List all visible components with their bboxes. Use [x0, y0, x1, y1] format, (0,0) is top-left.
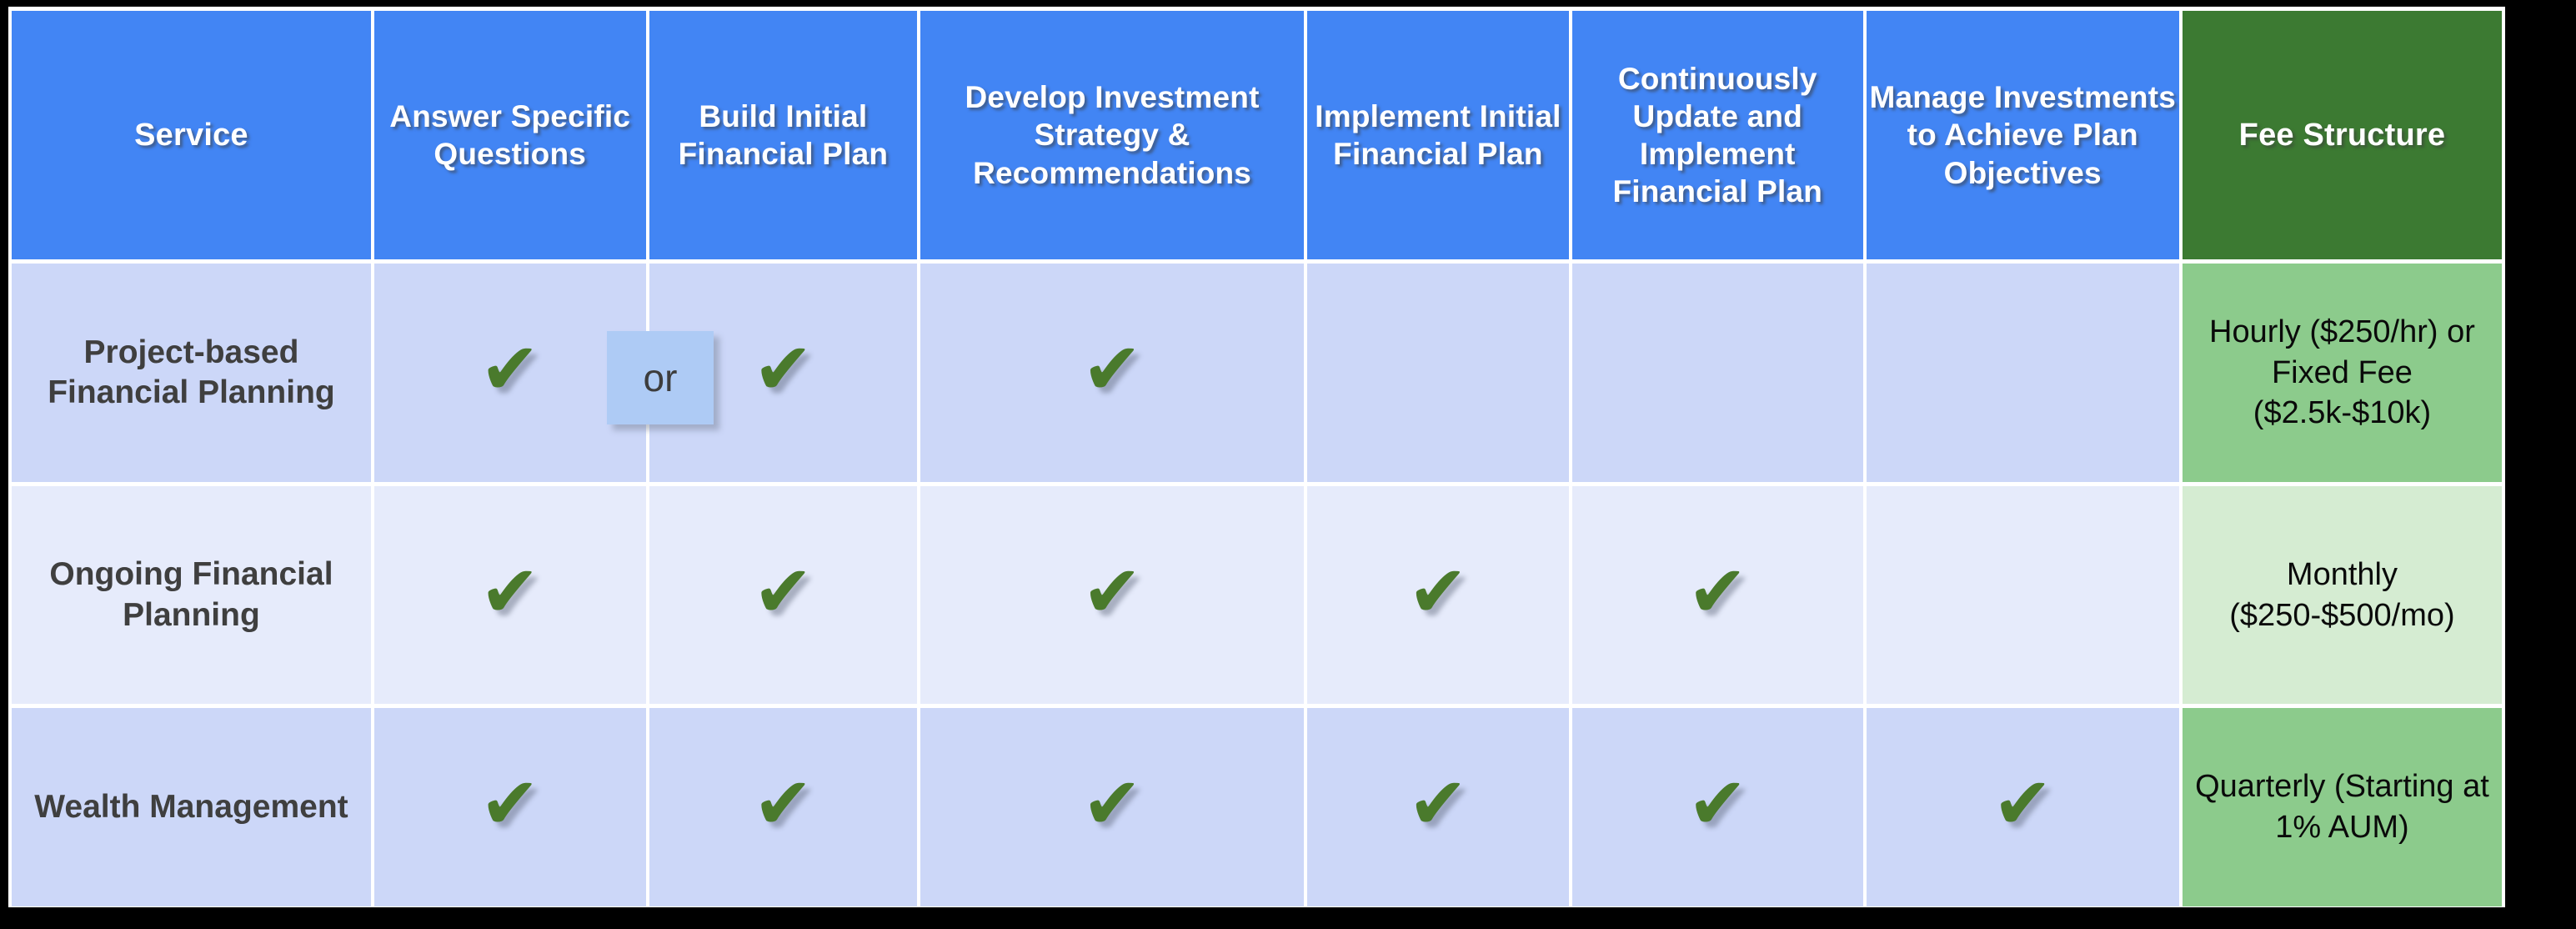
green-checkmark-icon: ✔: [753, 556, 813, 628]
green-checkmark-icon: ✔: [1408, 556, 1468, 628]
cell-update: ✔: [1572, 486, 1863, 704]
empty-cell: [1867, 486, 2179, 704]
green-checkmark-icon: ✔: [1082, 556, 1142, 628]
table-row: Project-based Financial Planning✔✔✔Hourl…: [12, 264, 2502, 482]
column-header-answer: Answer Specific Questions: [374, 11, 646, 259]
row-label: Wealth Management: [12, 708, 371, 906]
table-row: Ongoing Financial Planning✔✔✔✔✔Monthly (…: [12, 486, 2502, 704]
green-checkmark-icon: ✔: [753, 768, 813, 840]
green-checkmark-icon: ✔: [480, 556, 540, 628]
table-body: Project-based Financial Planning✔✔✔Hourl…: [12, 264, 2502, 906]
cell-fee: Quarterly (Starting at 1% AUM): [2183, 708, 2502, 906]
cell-manage: [1867, 486, 2179, 704]
image-frame: ServiceAnswer Specific QuestionsBuild In…: [0, 0, 2576, 929]
green-checkmark-icon: ✔: [1992, 768, 2052, 840]
cell-develop: ✔: [920, 486, 1304, 704]
green-checkmark-icon: ✔: [1082, 768, 1142, 840]
column-header-fee: Fee Structure: [2183, 11, 2502, 259]
table-sheet: ServiceAnswer Specific QuestionsBuild In…: [8, 7, 2505, 907]
empty-cell: [1307, 264, 1569, 482]
cell-manage: ✔: [1867, 708, 2179, 906]
cell-update: ✔: [1572, 708, 1863, 906]
column-header-develop: Develop Investment Strategy & Recommenda…: [920, 11, 1304, 259]
column-header-build: Build Initial Financial Plan: [649, 11, 918, 259]
table-header: ServiceAnswer Specific QuestionsBuild In…: [12, 11, 2502, 259]
cell-implement: [1307, 264, 1569, 482]
cell-build: ✔: [649, 708, 918, 906]
column-header-update: Continuously Update and Implement Financ…: [1572, 11, 1863, 259]
cell-fee: Monthly ($250-$500/mo): [2183, 486, 2502, 704]
cell-answer: ✔: [374, 708, 646, 906]
column-header-manage: Manage Investments to Achieve Plan Objec…: [1867, 11, 2179, 259]
cell-develop: ✔: [920, 708, 1304, 906]
cell-manage: [1867, 264, 2179, 482]
row-label: Project-based Financial Planning: [12, 264, 371, 482]
empty-cell: [1572, 264, 1863, 482]
column-header-service: Service: [12, 11, 371, 259]
green-checkmark-icon: ✔: [480, 334, 540, 405]
column-header-implement: Implement Initial Financial Plan: [1307, 11, 1569, 259]
cell-build: ✔: [649, 486, 918, 704]
green-checkmark-icon: ✔: [480, 768, 540, 840]
green-checkmark-icon: ✔: [1408, 768, 1468, 840]
table-row: Wealth Management✔✔✔✔✔✔Quarterly (Starti…: [12, 708, 2502, 906]
services-comparison-table: ServiceAnswer Specific QuestionsBuild In…: [8, 7, 2505, 911]
row-label: Ongoing Financial Planning: [12, 486, 371, 704]
green-checkmark-icon: ✔: [1687, 556, 1747, 628]
cell-update: [1572, 264, 1863, 482]
cell-fee: Hourly ($250/hr) or Fixed Fee ($2.5k-$10…: [2183, 264, 2502, 482]
cell-implement: ✔: [1307, 486, 1569, 704]
green-checkmark-icon: ✔: [753, 334, 813, 405]
cell-develop: ✔: [920, 264, 1304, 482]
cell-answer: ✔: [374, 486, 646, 704]
cell-implement: ✔: [1307, 708, 1569, 906]
table-header-row: ServiceAnswer Specific QuestionsBuild In…: [12, 11, 2502, 259]
green-checkmark-icon: ✔: [1687, 768, 1747, 840]
cell-answer: ✔: [374, 264, 646, 482]
green-checkmark-icon: ✔: [1082, 334, 1142, 405]
empty-cell: [1867, 264, 2179, 482]
or-badge: or: [607, 331, 714, 424]
